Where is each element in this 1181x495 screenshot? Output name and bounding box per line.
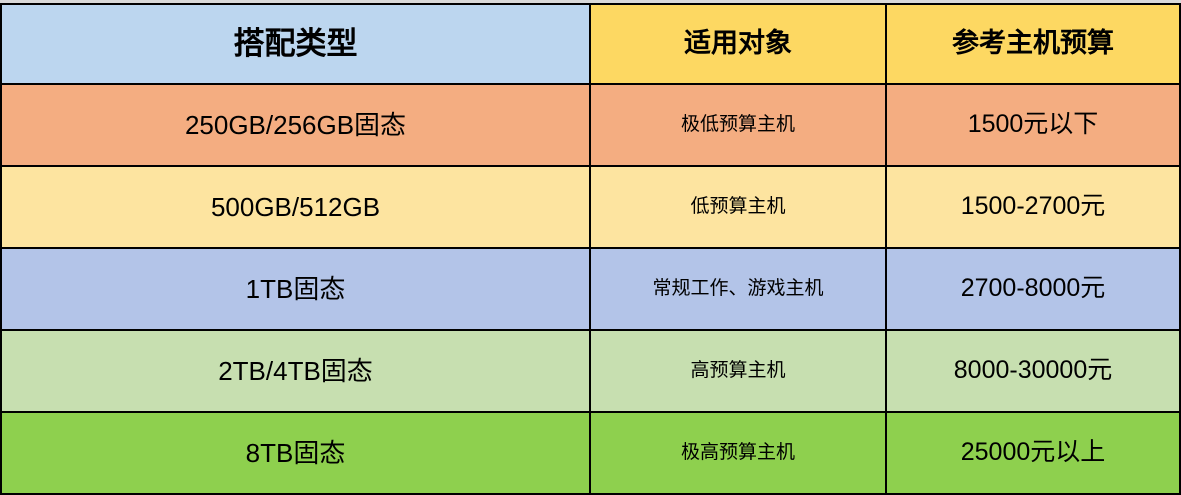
table-row: 500GB/512GB 低预算主机 1500-2700元 [1,166,1180,248]
column-header-type: 搭配类型 [1,4,590,84]
cell-budget: 1500元以下 [886,84,1180,166]
cell-type: 500GB/512GB [1,166,590,248]
cell-target: 极低预算主机 [590,84,886,166]
cell-type: 250GB/256GB固态 [1,84,590,166]
cell-budget: 8000-30000元 [886,330,1180,412]
cell-target: 低预算主机 [590,166,886,248]
table-row: 2TB/4TB固态 高预算主机 8000-30000元 [1,330,1180,412]
storage-budget-table: 搭配类型 适用对象 参考主机预算 250GB/256GB固态 极低预算主机 15… [0,3,1181,495]
cell-type: 2TB/4TB固态 [1,330,590,412]
spec-table-container: 搭配类型 适用对象 参考主机预算 250GB/256GB固态 极低预算主机 15… [0,3,1179,481]
cell-budget: 1500-2700元 [886,166,1180,248]
cell-target: 高预算主机 [590,330,886,412]
column-header-budget: 参考主机预算 [886,4,1180,84]
column-header-target: 适用对象 [590,4,886,84]
table-row: 250GB/256GB固态 极低预算主机 1500元以下 [1,84,1180,166]
cell-type: 1TB固态 [1,248,590,330]
cell-budget: 25000元以上 [886,412,1180,494]
cell-target: 极高预算主机 [590,412,886,494]
cell-target: 常规工作、游戏主机 [590,248,886,330]
cell-budget: 2700-8000元 [886,248,1180,330]
table-header-row: 搭配类型 适用对象 参考主机预算 [1,4,1180,84]
table-row: 8TB固态 极高预算主机 25000元以上 [1,412,1180,494]
table-row: 1TB固态 常规工作、游戏主机 2700-8000元 [1,248,1180,330]
cell-type: 8TB固态 [1,412,590,494]
